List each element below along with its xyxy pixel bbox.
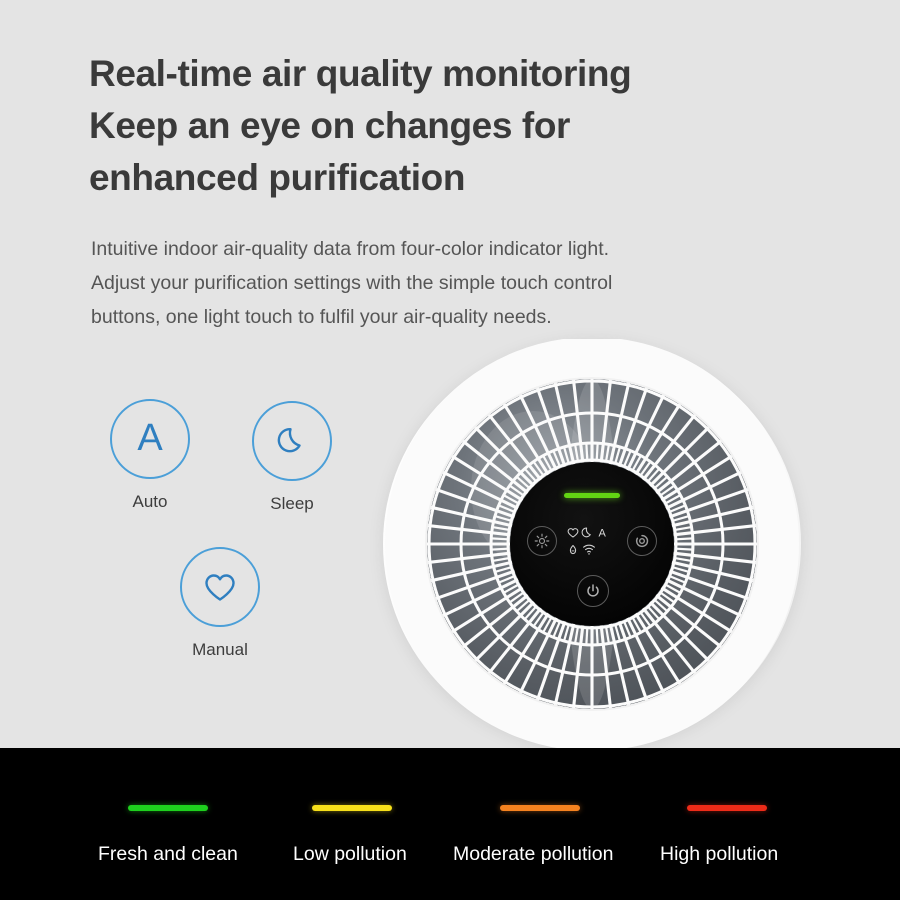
wifi-icon [584,545,595,554]
mode-label-sleep: Sleep [252,494,332,514]
status-icons-svg: A [566,525,618,559]
control-panel: A [510,462,674,626]
cycle-icon [633,532,651,550]
power-icon [584,582,602,600]
mode-ring-manual [180,547,260,627]
legend-color-bar [312,805,392,811]
legend-color-bar [128,805,208,811]
mode-ring-auto: A [110,399,190,479]
legend-label: Fresh and clean [98,843,238,865]
legend-item [500,805,580,811]
mode-label-auto: Auto [110,492,190,512]
mode-label-manual: Manual [180,640,260,660]
power-button[interactable] [577,575,609,607]
mode-badge-manual[interactable]: Manual [180,547,260,660]
letter-a-icon: A [137,419,162,457]
page-description: Intuitive indoor air-quality data from f… [91,232,771,334]
legend-label: Moderate pollution [453,843,613,865]
legend-label: Low pollution [293,843,407,865]
mode-badge-auto[interactable]: A Auto [110,399,190,512]
heart-icon [199,567,241,607]
legend-item [128,805,208,811]
legend-item [312,805,392,811]
filter-reset-button[interactable] [627,526,657,556]
air-purifier: A [383,339,801,749]
fan-icon [533,532,551,550]
air-quality-legend: Fresh and clean Low pollution Moderate p… [0,748,900,900]
legend-color-bar [687,805,767,811]
status-indicator-cluster: A [566,525,618,559]
fan-speed-button[interactable] [527,526,557,556]
heart-icon [568,529,578,537]
legend-label: High pollution [660,843,778,865]
legend-item [687,805,767,811]
svg-text:A: A [599,528,607,540]
filter-drop-icon [570,546,575,554]
page-title: Real-time air quality monitoring Keep an… [89,48,789,204]
letter-a-icon: A [599,528,607,540]
air-quality-bar [564,493,620,498]
mode-ring-sleep [252,401,332,481]
legend-color-bar [500,805,580,811]
mode-badge-sleep[interactable]: Sleep [252,401,332,514]
product-feature-panel: Real-time air quality monitoring Keep an… [0,0,900,900]
moon-icon [272,421,312,461]
moon-icon [582,528,590,537]
